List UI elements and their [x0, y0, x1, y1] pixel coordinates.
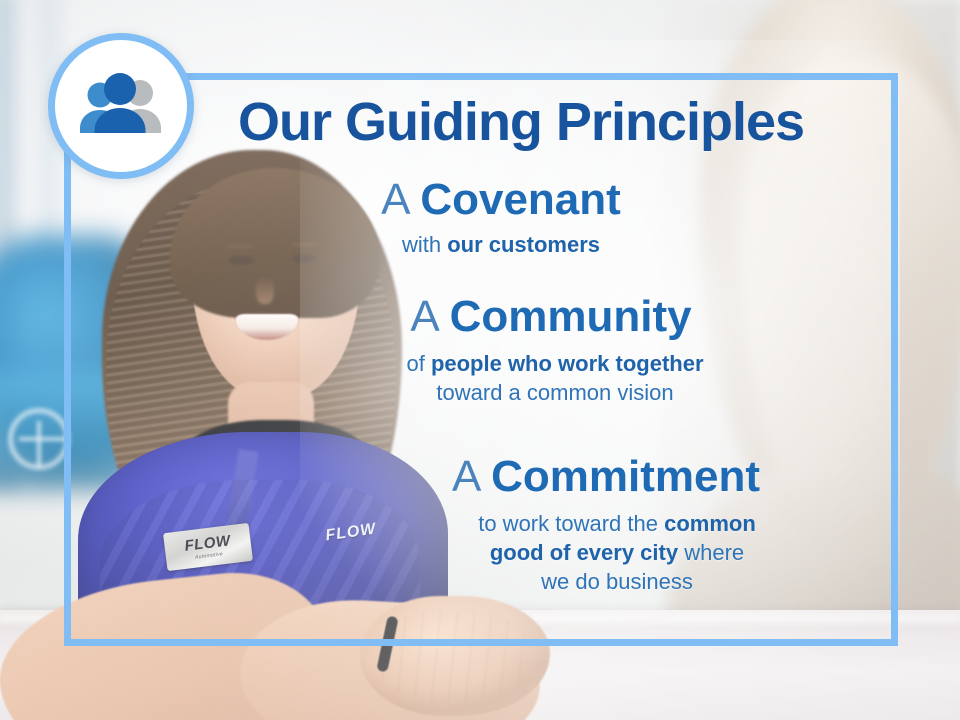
associate-eyebrow-left	[224, 244, 256, 249]
associate-nose	[256, 276, 274, 304]
name-badge-brand: FLOW	[184, 533, 232, 554]
guiding-principles-graphic: FLOW Automotive FLOW	[0, 0, 960, 720]
foreground-customer	[680, 0, 960, 640]
associate-eye-right	[292, 254, 316, 263]
chest-flow-logo-text: FLOW	[324, 521, 377, 546]
associate-eye-left	[228, 256, 254, 265]
people-group-icon	[48, 33, 194, 179]
sales-associate: FLOW Automotive FLOW	[60, 150, 520, 720]
associate-eyebrow-right	[290, 242, 320, 247]
